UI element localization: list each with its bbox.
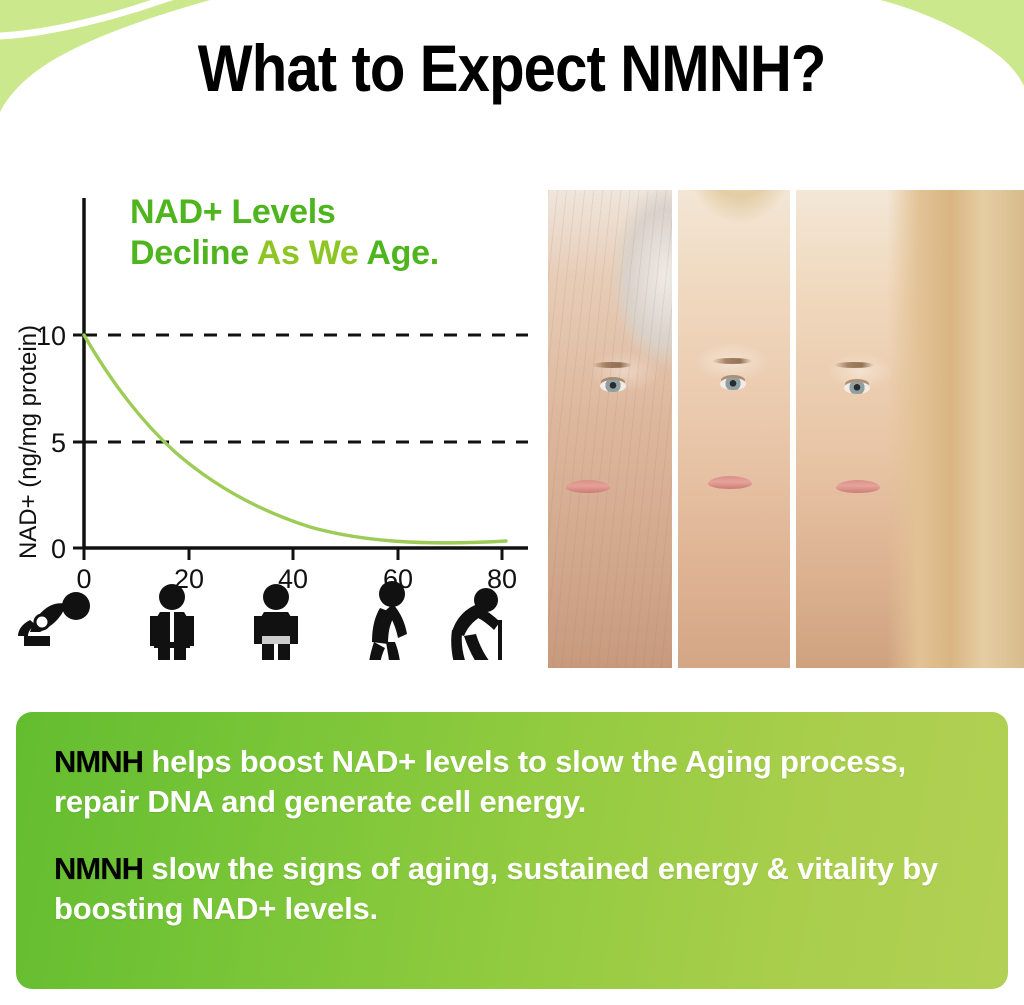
nad-decay-curve [84, 335, 506, 543]
benefits-panel: NMNH helps boost NAD+ levels to slow the… [16, 712, 1008, 989]
panel-aged-face [548, 190, 672, 668]
y-tick-0: 0 [51, 534, 66, 564]
brand-name: NMNH [54, 851, 143, 886]
age-figure-young-adult [150, 584, 194, 660]
benefit-text-1: helps boost NAD+ levels to slow the Agin… [54, 744, 906, 819]
lips [836, 480, 880, 493]
eye [844, 382, 870, 394]
chart-headline-line2a: Decline [130, 234, 257, 272]
chart-headline-line1: NAD+ Levels [130, 193, 336, 231]
lips [708, 476, 752, 489]
panel-middle-face [678, 190, 790, 668]
y-tick-5: 5 [51, 428, 66, 458]
x-tick-0: 0 [76, 564, 91, 594]
aging-photo-collage [548, 190, 1024, 668]
chart-headline-line2b: As We [257, 234, 367, 272]
nad-decline-chart: 10 5 0 0 20 40 60 80 NAD+ (ng/mg protein… [0, 180, 540, 660]
age-figure-elderly-stooped [368, 581, 407, 660]
eye [600, 380, 626, 392]
chart-y-axis-label: NAD+ (ng/mg protein) [15, 325, 42, 559]
chart-headline-line2c: Age. [366, 234, 438, 272]
wrinkle-texture [548, 190, 672, 668]
age-figure-crawling-baby [18, 592, 90, 646]
eyebrow [592, 362, 632, 368]
chart-y-ticks: 10 5 0 [36, 321, 84, 564]
benefit-paragraph-2: NMNH slow the signs of aging, sustained … [54, 849, 970, 930]
lips [566, 480, 610, 493]
benefit-text-2: slow the signs of aging, sustained energ… [54, 851, 938, 926]
panel-young-face [796, 190, 1024, 668]
chart-headline: NAD+ Levels Decline As We Age. [130, 192, 530, 275]
age-figure-adult [254, 584, 298, 660]
content-middle: 10 5 0 0 20 40 60 80 NAD+ (ng/mg protein… [0, 180, 1024, 680]
chart-x-ticks: 0 20 40 60 80 [76, 548, 517, 594]
page-title: What to Expect NMNH? [198, 30, 826, 106]
page-title-bar: What to Expect NMNH? [0, 30, 1024, 106]
age-figure-elderly-with-cane [451, 588, 502, 660]
benefit-paragraph-1: NMNH helps boost NAD+ levels to slow the… [54, 742, 970, 823]
eyebrow [834, 362, 874, 368]
eyebrow [712, 358, 752, 364]
eye [720, 378, 746, 390]
brand-name: NMNH [54, 744, 143, 779]
